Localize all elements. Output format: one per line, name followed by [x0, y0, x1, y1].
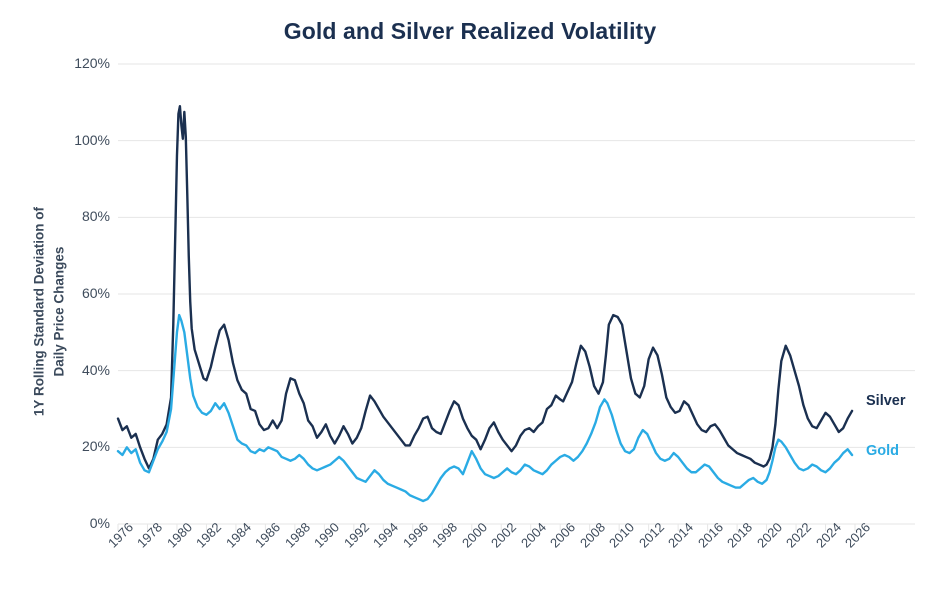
- chart-container: Gold and Silver Realized Volatility 1Y R…: [0, 0, 940, 600]
- y-tick-label: 120%: [48, 55, 110, 71]
- series-lines: [118, 106, 852, 501]
- plot-svg: [0, 0, 940, 600]
- y-tick-label: 20%: [48, 438, 110, 454]
- y-tick-label: 0%: [48, 515, 110, 531]
- series-label-gold: Gold: [866, 443, 899, 459]
- series-label-silver: Silver: [866, 393, 906, 409]
- gridlines: [118, 64, 915, 524]
- y-tick-label: 100%: [48, 132, 110, 148]
- y-tick-label: 60%: [48, 285, 110, 301]
- y-tick-label: 40%: [48, 362, 110, 378]
- y-tick-label: 80%: [48, 208, 110, 224]
